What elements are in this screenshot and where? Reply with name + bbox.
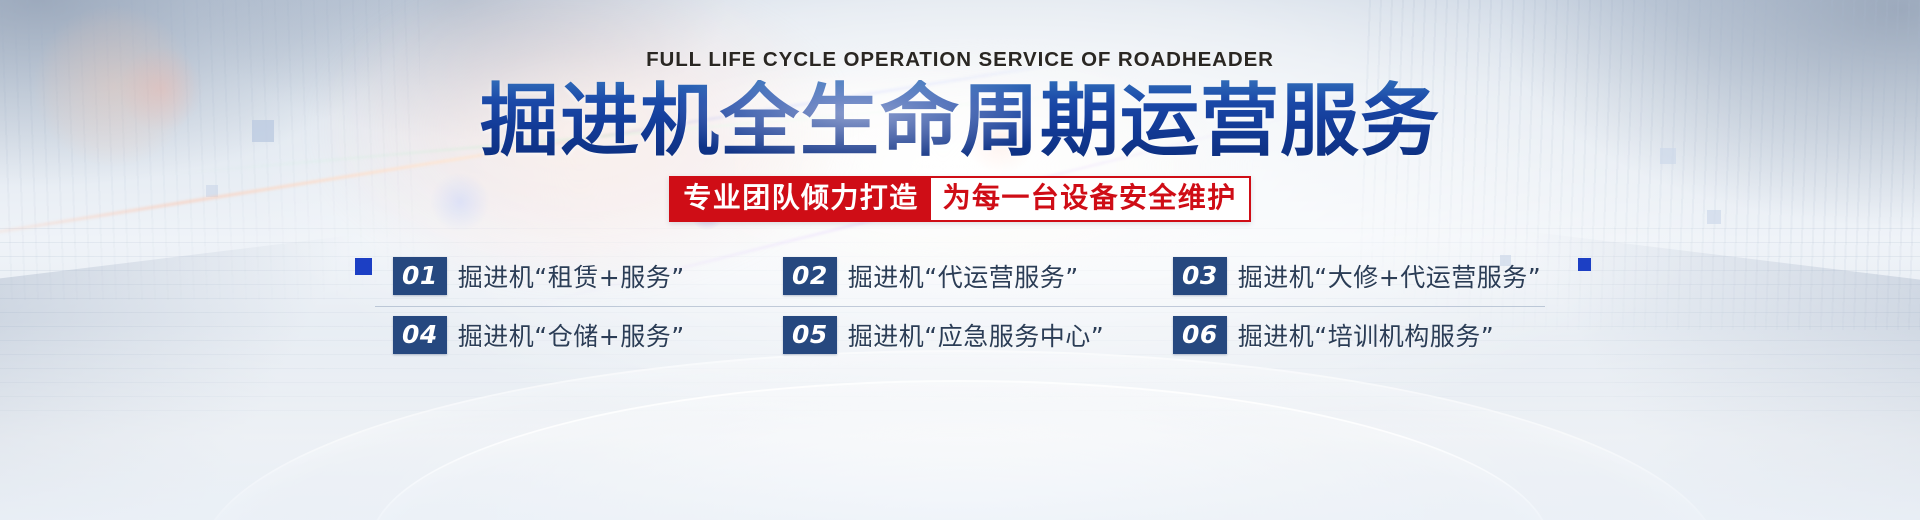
tagline-segment-primary: 专业团队倾力打造 — [671, 178, 930, 220]
banner-headline: 掘进机全生命周期运营服务 — [480, 80, 1440, 162]
promo-banner: FULL LIFE CYCLE OPERATION SERVICE OF ROA… — [0, 0, 1920, 520]
service-item-03[interactable]: 03 掘进机“大修+代运营服务” — [1155, 257, 1545, 295]
banner-content: FULL LIFE CYCLE OPERATION SERVICE OF ROA… — [0, 0, 1920, 520]
tagline-segment-secondary: 为每一台设备安全维护 — [931, 178, 1249, 220]
service-number-badge: 03 — [1173, 257, 1227, 295]
service-number-badge: 02 — [783, 257, 837, 295]
service-number-badge: 04 — [393, 316, 447, 354]
service-number-badge: 06 — [1173, 316, 1227, 354]
service-row-top: 01 掘进机“租赁+服务” 02 掘进机“代运营服务” 03 掘进机“大修+代运… — [375, 248, 1545, 307]
service-list: 01 掘进机“租赁+服务” 02 掘进机“代运营服务” 03 掘进机“大修+代运… — [375, 248, 1545, 365]
service-number-badge: 05 — [783, 316, 837, 354]
service-item-02[interactable]: 02 掘进机“代运营服务” — [765, 257, 1155, 295]
service-label: 掘进机“代运营服务” — [848, 258, 1079, 294]
service-item-05[interactable]: 05 掘进机“应急服务中心” — [765, 316, 1155, 354]
service-item-06[interactable]: 06 掘进机“培训机构服务” — [1155, 316, 1545, 354]
banner-eyebrow-english: FULL LIFE CYCLE OPERATION SERVICE OF ROA… — [646, 48, 1274, 72]
service-label: 掘进机“培训机构服务” — [1238, 317, 1494, 353]
service-number-badge: 01 — [393, 257, 447, 295]
service-label: 掘进机“应急服务中心” — [848, 317, 1104, 353]
service-item-01[interactable]: 01 掘进机“租赁+服务” — [375, 257, 765, 295]
tagline-bar: 专业团队倾力打造 为每一台设备安全维护 — [669, 176, 1250, 222]
service-label: 掘进机“租赁+服务” — [458, 258, 685, 294]
service-item-04[interactable]: 04 掘进机“仓储+服务” — [375, 316, 765, 354]
service-label: 掘进机“仓储+服务” — [458, 317, 685, 353]
banner-headline-wrap: 掘进机全生命周期运营服务 — [480, 72, 1440, 162]
service-label: 掘进机“大修+代运营服务” — [1238, 258, 1541, 294]
service-row-bottom: 04 掘进机“仓储+服务” 05 掘进机“应急服务中心” 06 掘进机“培训机构… — [375, 307, 1545, 365]
